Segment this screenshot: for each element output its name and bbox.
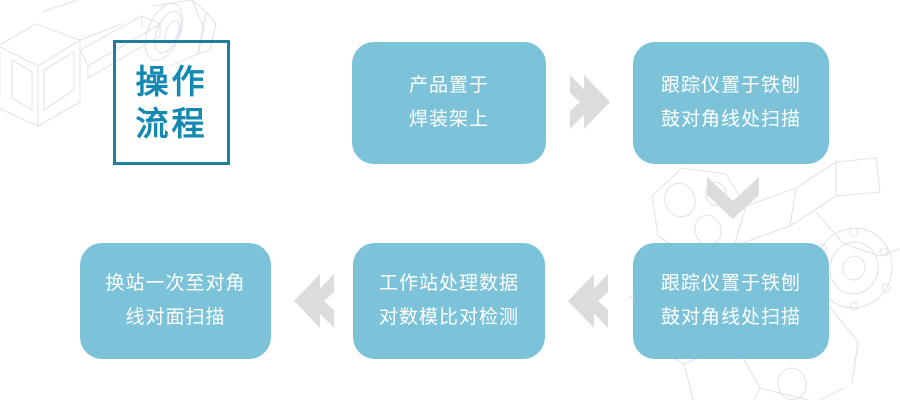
chevron-left-icon: [290, 272, 338, 330]
flow-step-2-label: 跟踪仪置于铁刨 鼓对角线处扫描: [661, 69, 801, 137]
flow-step-3-label: 跟踪仪置于铁刨 鼓对角线处扫描: [661, 267, 801, 335]
chevron-right-icon: [566, 73, 614, 131]
flow-step-1-label: 产品置于 焊装架上: [409, 69, 489, 137]
flow-step-2[interactable]: 跟踪仪置于铁刨 鼓对角线处扫描: [633, 42, 829, 164]
page-title: 操作 流程: [116, 61, 227, 145]
flow-step-1[interactable]: 产品置于 焊装架上: [352, 42, 546, 164]
page-title-badge: 操作 流程: [113, 40, 230, 165]
chevron-down-icon: [705, 175, 761, 221]
flowchart-canvas: 操作 流程 产品置于 焊装架上 跟踪仪置于铁刨 鼓对角线处扫描 跟踪仪置于铁刨 …: [0, 0, 900, 400]
chevron-left-icon: [564, 272, 612, 330]
flow-step-5-label: 换站一次至对角 线对面扫描: [105, 267, 245, 335]
flow-step-5[interactable]: 换站一次至对角 线对面扫描: [80, 243, 271, 359]
flow-step-3[interactable]: 跟踪仪置于铁刨 鼓对角线处扫描: [633, 243, 829, 359]
flow-step-4-label: 工作站处理数据 对数模比对检测: [379, 267, 519, 335]
flow-step-4[interactable]: 工作站处理数据 对数模比对检测: [353, 243, 545, 359]
